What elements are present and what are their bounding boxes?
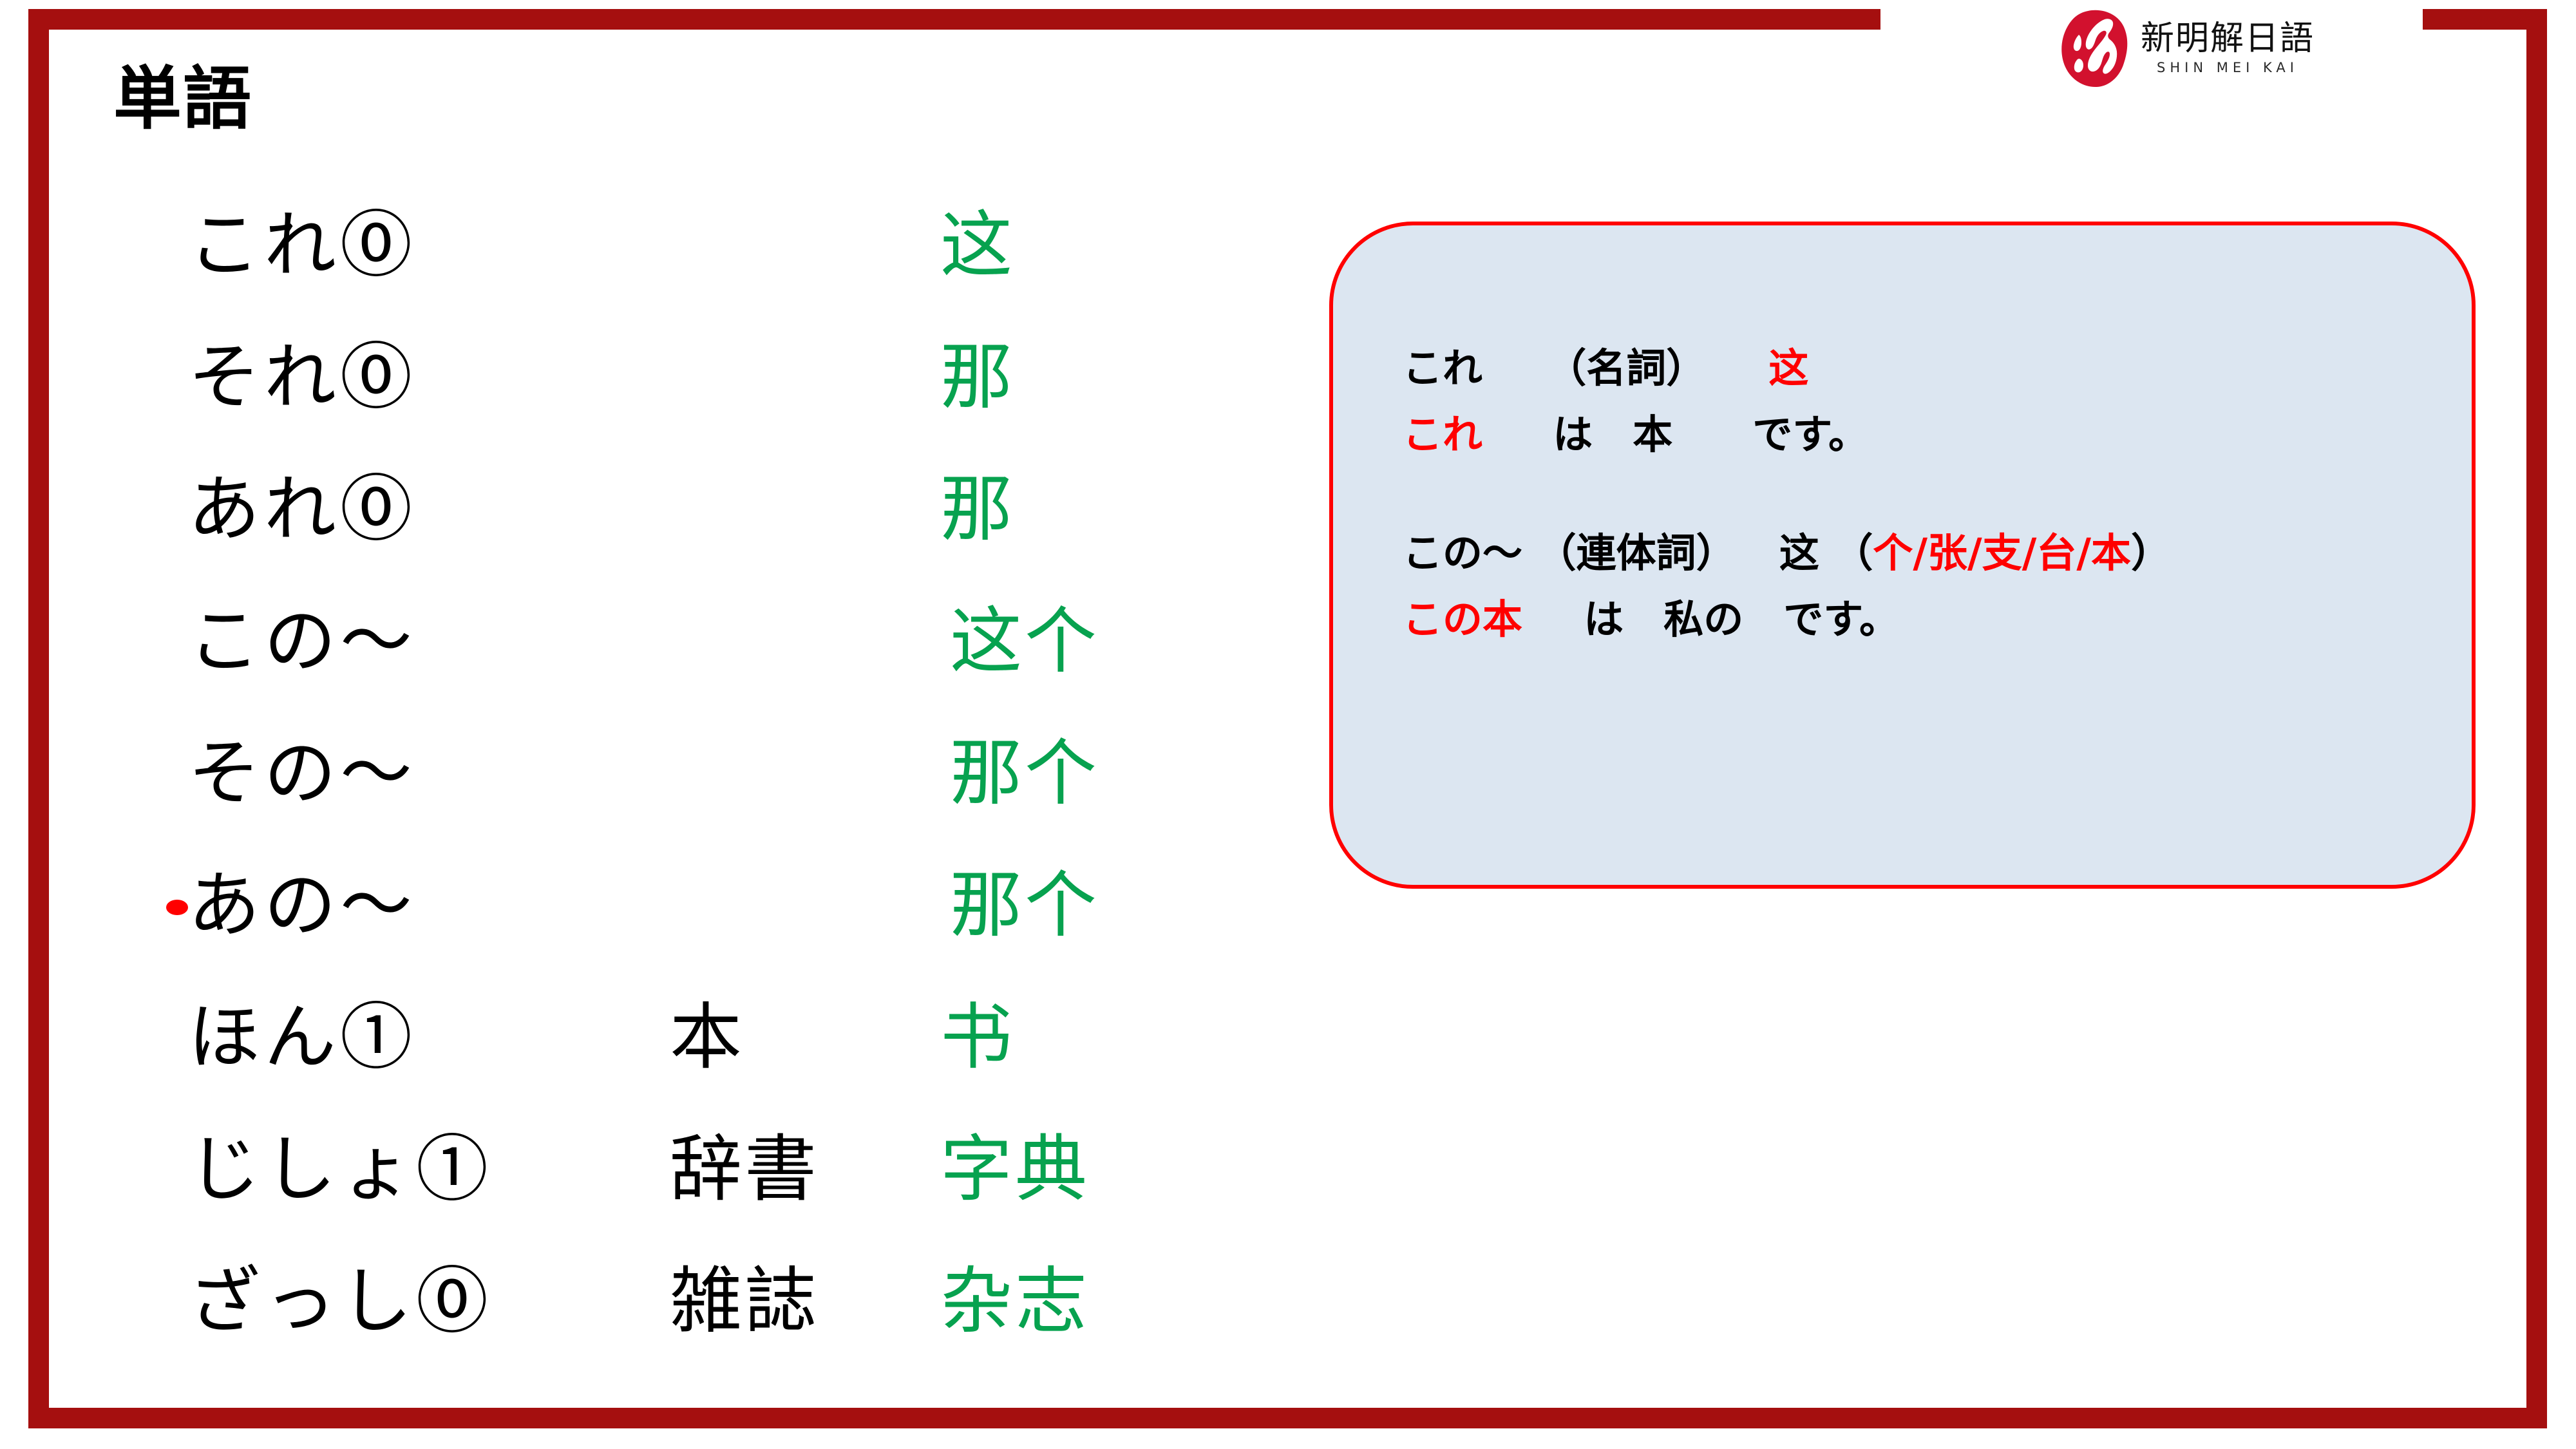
- brand-logo: 新明解日語 SHIN MEI KAI: [2060, 9, 2315, 88]
- logo-subtitle: SHIN MEI KAI: [2157, 61, 2298, 75]
- callout-headword-line: これ （名詞） 这: [1403, 343, 2446, 395]
- callout-example-line: これ は 本 です。: [1403, 409, 2446, 461]
- vocab-kana: その～: [188, 721, 416, 826]
- callout-gloss: 这: [1768, 345, 1808, 392]
- vocab-row: ほん① 本 书: [0, 985, 1224, 1117]
- callout-headword: この～: [1403, 529, 1522, 576]
- vocab-kana: この～: [188, 589, 416, 694]
- vocabulary-list: これ⓪ 这 それ⓪ 那 あれ⓪ 那 この～ 这个 その～ 那个 あの～ 那个 ほ…: [0, 193, 1224, 1381]
- grammar-callout-box: これ （名詞） 这 これ は 本 です。 この～ （連体詞） 这 （个/张/支/…: [1329, 222, 2476, 889]
- vocab-chinese: 那个: [950, 721, 1099, 826]
- vocab-kana: じしょ①: [188, 1117, 492, 1222]
- vocab-row: ざっし⓪ 雑誌 杂志: [0, 1249, 1224, 1381]
- vocab-row: これ⓪ 这: [0, 193, 1224, 325]
- callout-headword-line: この～ （連体詞） 这 （个/张/支/台/本）: [1403, 527, 2446, 580]
- red-bullet-icon: [166, 900, 188, 915]
- vocab-row: じしょ① 辞書 字典: [0, 1117, 1224, 1249]
- callout-example-highlight: これ: [1403, 411, 1482, 458]
- frame-top-left-segment: [28, 9, 1880, 30]
- callout-paragraph: この～ （連体詞） 这 （个/张/支/台/本） この本 は 私の です。: [1403, 527, 2446, 645]
- red-seal-icon: [2060, 9, 2132, 88]
- vocab-row: あの～ 那个: [0, 853, 1224, 985]
- vocab-kanji: 辞書: [670, 1117, 819, 1222]
- callout-gloss-prefix: 这 （: [1779, 529, 1873, 576]
- vocab-kana: あれ⓪: [188, 457, 416, 562]
- vocab-chinese: 那个: [950, 853, 1099, 958]
- callout-paragraph: これ （名詞） 这 これ は 本 です。: [1403, 343, 2446, 460]
- page-title: 単語: [113, 62, 252, 137]
- callout-example-rest: は 本 です。: [1553, 411, 1868, 458]
- vocab-kana: それ⓪: [188, 325, 416, 430]
- callout-example-highlight: この本: [1403, 596, 1522, 643]
- vocab-chinese: 那: [940, 457, 1015, 562]
- frame-bottom-segment: [28, 1408, 2547, 1428]
- logo-title: 新明解日語: [2141, 22, 2315, 55]
- vocab-chinese: 那: [940, 325, 1015, 430]
- callout-body: これ （名詞） 这 これ は 本 です。 この～ （連体詞） 这 （个/张/支/…: [1403, 343, 2446, 645]
- vocab-chinese: 杂志: [940, 1249, 1090, 1354]
- vocab-chinese: 字典: [940, 1117, 1090, 1222]
- vocab-chinese: 书: [940, 985, 1015, 1090]
- callout-example-rest: は 私の です。: [1584, 596, 1899, 643]
- frame-right-segment: [2526, 9, 2547, 1428]
- callout-gloss-counters: 个/张/支/台/本: [1873, 529, 2131, 576]
- vocab-row: この～ 这个: [0, 589, 1224, 721]
- vocab-chinese: 这: [940, 193, 1015, 298]
- callout-example-line: この本 は 私の です。: [1403, 594, 2446, 646]
- vocab-kanji: 本: [670, 985, 744, 1090]
- vocab-kana: これ⓪: [188, 193, 416, 298]
- vocab-kanji: 雑誌: [670, 1249, 819, 1354]
- vocab-row: あれ⓪ 那: [0, 457, 1224, 589]
- callout-pos: （名詞）: [1546, 345, 1706, 392]
- logo-text-block: 新明解日語 SHIN MEI KAI: [2141, 22, 2315, 75]
- vocab-row: それ⓪ 那: [0, 325, 1224, 457]
- callout-gloss-suffix: ）: [2131, 529, 2171, 576]
- callout-pos: （連体詞）: [1537, 529, 1736, 576]
- callout-headword: これ: [1403, 345, 1482, 392]
- vocab-kana: あの～: [188, 853, 416, 958]
- vocab-kana: ざっし⓪: [188, 1249, 492, 1354]
- vocab-row: その～ 那个: [0, 721, 1224, 853]
- vocab-chinese: 这个: [950, 589, 1099, 694]
- vocab-kana: ほん①: [188, 985, 416, 1090]
